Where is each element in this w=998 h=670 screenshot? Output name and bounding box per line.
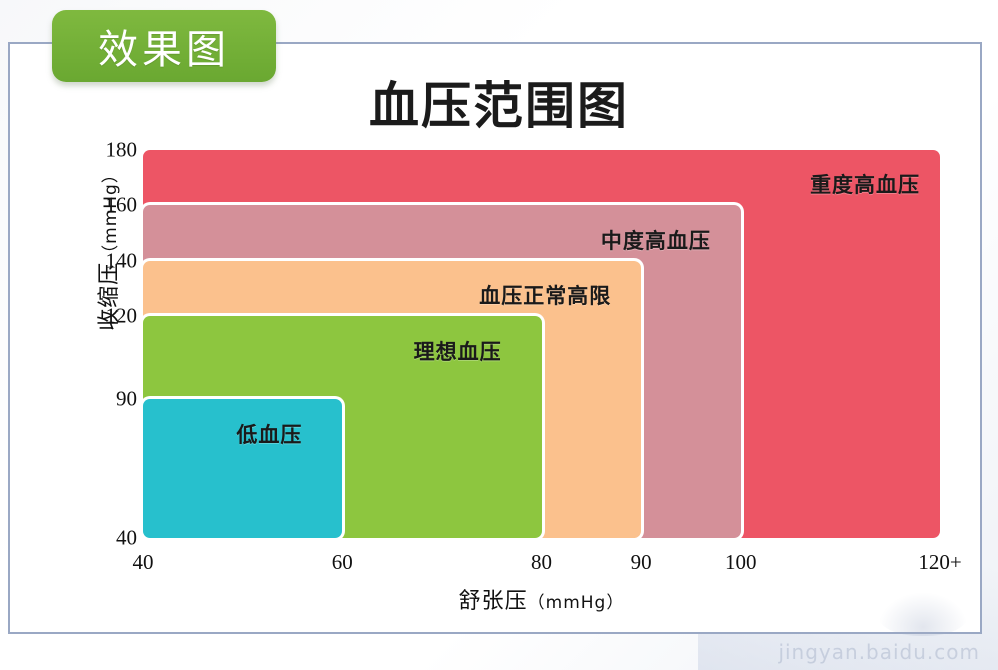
bp-region-label: 低血压 [236, 419, 302, 449]
x-axis-title-unit: （mmHg） [528, 593, 625, 613]
x-axis-tick-label: 120+ [900, 550, 980, 575]
x-axis-tick-label: 90 [601, 550, 681, 575]
x-axis-title-main: 舒张压 [459, 589, 528, 614]
bp-region-label: 重度高血压 [810, 169, 920, 199]
chart-title: 血压范围图 [0, 66, 998, 138]
x-axis-tick-label: 100 [701, 550, 781, 575]
y-axis-title-unit: （mmHg） [101, 165, 121, 262]
y-axis-title: 收缩压（mmHg） [91, 133, 123, 363]
y-axis-title-main: 收缩压 [97, 262, 122, 331]
x-axis-tick-label: 60 [302, 550, 382, 575]
y-axis-tick-label: 40 [77, 526, 137, 551]
plot-area: 重度高血压中度高血压血压正常高限理想血压低血压 [143, 150, 940, 538]
x-axis-tick-label: 80 [502, 550, 582, 575]
watermark-graphic [878, 592, 968, 636]
x-axis-title: 舒张压（mmHg） [143, 583, 940, 615]
bp-region-label: 理想血压 [414, 336, 502, 366]
bp-region-label: 中度高血压 [601, 225, 711, 255]
x-axis-tick-row: 40608090100120+ [143, 550, 940, 580]
x-axis-tick-label: 40 [103, 550, 183, 575]
watermark-text: jingyan.baidu.com [778, 640, 980, 664]
bp-region-label: 血压正常高限 [479, 280, 611, 310]
y-axis-tick-label: 90 [77, 387, 137, 412]
